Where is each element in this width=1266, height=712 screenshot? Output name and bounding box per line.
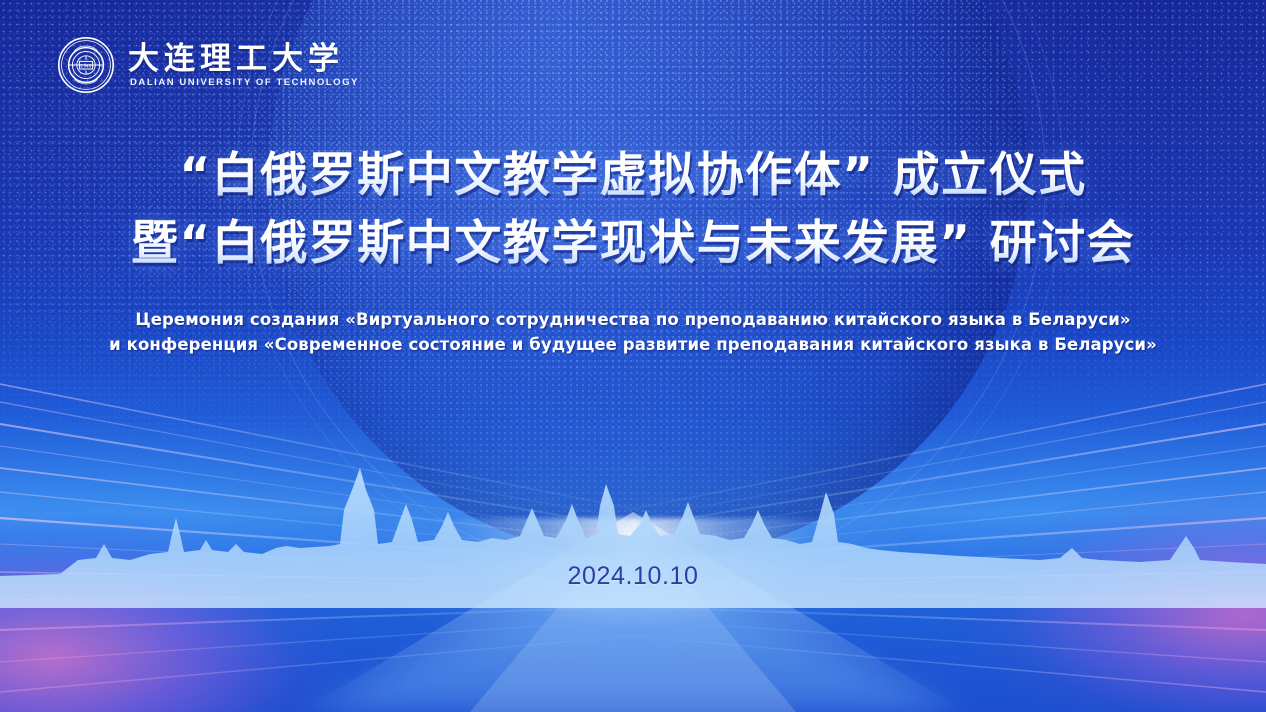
title-line-2: 暨“白俄罗斯中文教学现状与未来发展” 研讨会 bbox=[0, 210, 1266, 278]
subtitle-line-2: и конференция «Современное состояние и б… bbox=[0, 332, 1266, 357]
svg-text:1949: 1949 bbox=[80, 64, 91, 70]
dut-emblem-icon: 1949 bbox=[57, 36, 115, 94]
russian-subtitle: Церемония создания «Виртуального сотрудн… bbox=[0, 307, 1266, 357]
poster-canvas: 1949 大连理工大学 DALIAN UNIVERSITY OF TECHNOL… bbox=[0, 0, 1266, 712]
university-logo: 1949 大连理工大学 DALIAN UNIVERSITY OF TECHNOL… bbox=[57, 36, 359, 94]
subtitle-line-1: Церемония создания «Виртуального сотрудн… bbox=[0, 307, 1266, 332]
logo-english-name: DALIAN UNIVERSITY OF TECHNOLOGY bbox=[128, 78, 359, 88]
event-date: 2024.10.10 bbox=[0, 562, 1266, 591]
logo-chinese-name: 大连理工大学 bbox=[128, 43, 359, 76]
title-line-1: “白俄罗斯中文教学虚拟协作体” 成立仪式 bbox=[0, 142, 1266, 210]
main-title: “白俄罗斯中文教学虚拟协作体” 成立仪式 暨“白俄罗斯中文教学现状与未来发展” … bbox=[0, 142, 1266, 278]
